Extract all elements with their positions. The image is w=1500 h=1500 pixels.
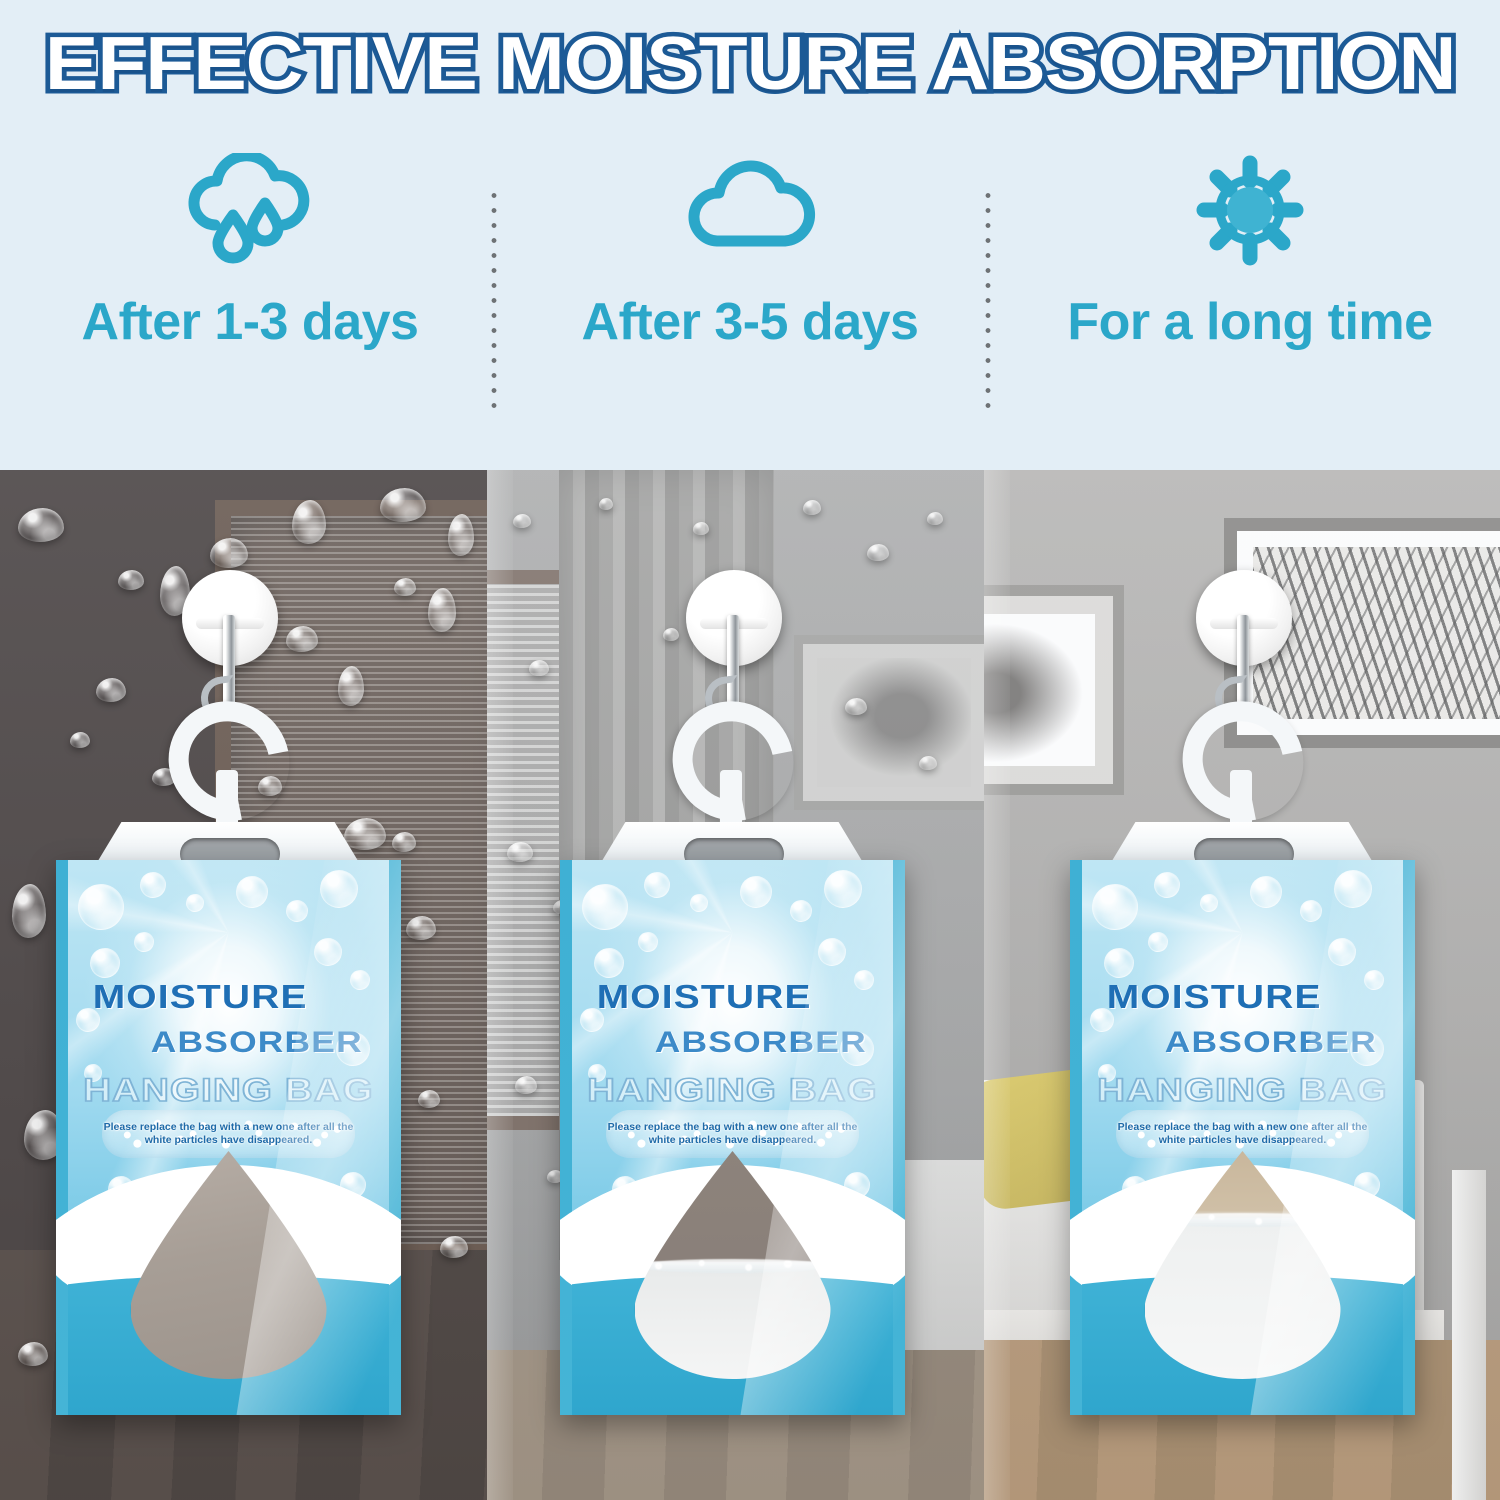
water-surface-line [635, 1259, 831, 1273]
condensation-drop [927, 512, 943, 525]
bubble [690, 894, 708, 912]
bubble [818, 938, 846, 966]
bag-line-1: MOISTURE [1070, 978, 1404, 1016]
feature-divider-1 [491, 188, 497, 408]
product-unit-3: MOISTURE ABSORBER HANGING BAG Please rep… [1062, 470, 1422, 1500]
product-unit-1: MOISTURE ABSORBER HANGING BAG Please rep… [48, 470, 408, 1500]
bubble [790, 900, 812, 922]
bag-face: MOISTURE ABSORBER HANGING BAG Please rep… [1082, 860, 1403, 1415]
feature-label: After 1-3 days [82, 292, 419, 352]
bubble [638, 932, 658, 952]
feature-after-1-3-days: After 1-3 days [0, 150, 500, 410]
condensation-drop [507, 842, 533, 862]
feature-label: After 3-5 days [582, 292, 919, 352]
condensation-drop [529, 660, 549, 676]
bag-fine-print: Please replace the bag with a new one af… [606, 1121, 859, 1147]
bag-line-3: HANGING BAG [560, 1072, 905, 1109]
bubble [320, 870, 358, 908]
bag-line-3: HANGING BAG [56, 1072, 401, 1109]
bag-fine-print: Please replace the bag with a new one af… [102, 1121, 355, 1147]
absorbent-particles-strip: Please replace the bag with a new one af… [102, 1110, 355, 1158]
bag-title-block: MOISTURE ABSORBER HANGING BAG [68, 978, 389, 1109]
feature-after-3-5-days: After 3-5 days [500, 150, 1000, 410]
bubble [286, 900, 308, 922]
bubble [236, 876, 268, 908]
bubble [1300, 900, 1322, 922]
moisture-absorber-bag[interactable]: MOISTURE ABSORBER HANGING BAG Please rep… [1070, 860, 1415, 1415]
page-title-wrap: EFFECTIVE MOISTURE ABSORPTION [0, 22, 1500, 104]
condensation-drop [448, 514, 474, 556]
bag-face: MOISTURE ABSORBER HANGING BAG Please rep… [68, 860, 389, 1415]
bag-line-1: MOISTURE [560, 978, 894, 1016]
condensation-drop [18, 1342, 48, 1366]
cloud-icon [675, 150, 825, 270]
bubble [1154, 872, 1180, 898]
condensation-drop [440, 1236, 468, 1258]
bubble [824, 870, 862, 908]
feature-row: After 1-3 days After 3-5 days [0, 150, 1500, 410]
bubble [1328, 938, 1356, 966]
sun-icon [1185, 150, 1315, 270]
condensation-drop [418, 1090, 440, 1108]
bag-line-2: ABSORBER [67, 1026, 401, 1060]
bubble [1104, 948, 1134, 978]
bubble [594, 948, 624, 978]
bubble [1200, 894, 1218, 912]
feature-label: For a long time [1067, 292, 1432, 352]
product-photo-strip: MOISTURE ABSORBER HANGING BAG Please rep… [0, 470, 1500, 1500]
bubble [644, 872, 670, 898]
bag-line-1: MOISTURE [56, 978, 390, 1016]
bubble [186, 894, 204, 912]
bag-line-3: HANGING BAG [1070, 1072, 1415, 1109]
bubble [1148, 932, 1168, 952]
bag-fine-print: Please replace the bag with a new one af… [1116, 1121, 1369, 1147]
condensation-drop [919, 756, 937, 770]
bubble [134, 932, 154, 952]
bag-line-2: ABSORBER [571, 1026, 905, 1060]
absorbent-particles-strip: Please replace the bag with a new one af… [606, 1110, 859, 1158]
condensation-drop [513, 514, 531, 528]
bubble [1250, 876, 1282, 908]
bag-line-2: ABSORBER [1081, 1026, 1415, 1060]
bubble [78, 884, 124, 930]
page-title: EFFECTIVE MOISTURE ABSORPTION [45, 20, 1456, 106]
bag-face: MOISTURE ABSORBER HANGING BAG Please rep… [572, 860, 893, 1415]
floor-lamp [1452, 1170, 1486, 1500]
bubble [1334, 870, 1372, 908]
product-unit-2: MOISTURE ABSORBER HANGING BAG Please rep… [552, 470, 912, 1500]
rain-cloud-icon [175, 150, 325, 270]
header-banner: EFFECTIVE MOISTURE ABSORPTION After 1-3 … [0, 0, 1500, 470]
bag-title-block: MOISTURE ABSORBER HANGING BAG [572, 978, 893, 1109]
condensation-drop [12, 884, 46, 938]
bubble [582, 884, 628, 930]
bubble [314, 938, 342, 966]
bubble [90, 948, 120, 978]
bubble [740, 876, 772, 908]
condensation-drop [515, 1076, 537, 1094]
bubble [140, 872, 166, 898]
condensation-drop [428, 588, 456, 632]
moisture-absorber-bag[interactable]: MOISTURE ABSORBER HANGING BAG Please rep… [560, 860, 905, 1415]
condensation-drop [406, 916, 436, 940]
moisture-absorber-bag[interactable]: MOISTURE ABSORBER HANGING BAG Please rep… [56, 860, 401, 1415]
bubble [1092, 884, 1138, 930]
absorbent-particles-strip: Please replace the bag with a new one af… [1116, 1110, 1369, 1158]
feature-for-a-long-time: For a long time [1000, 150, 1500, 410]
feature-divider-2 [985, 188, 991, 408]
bag-title-block: MOISTURE ABSORBER HANGING BAG [1082, 978, 1403, 1109]
